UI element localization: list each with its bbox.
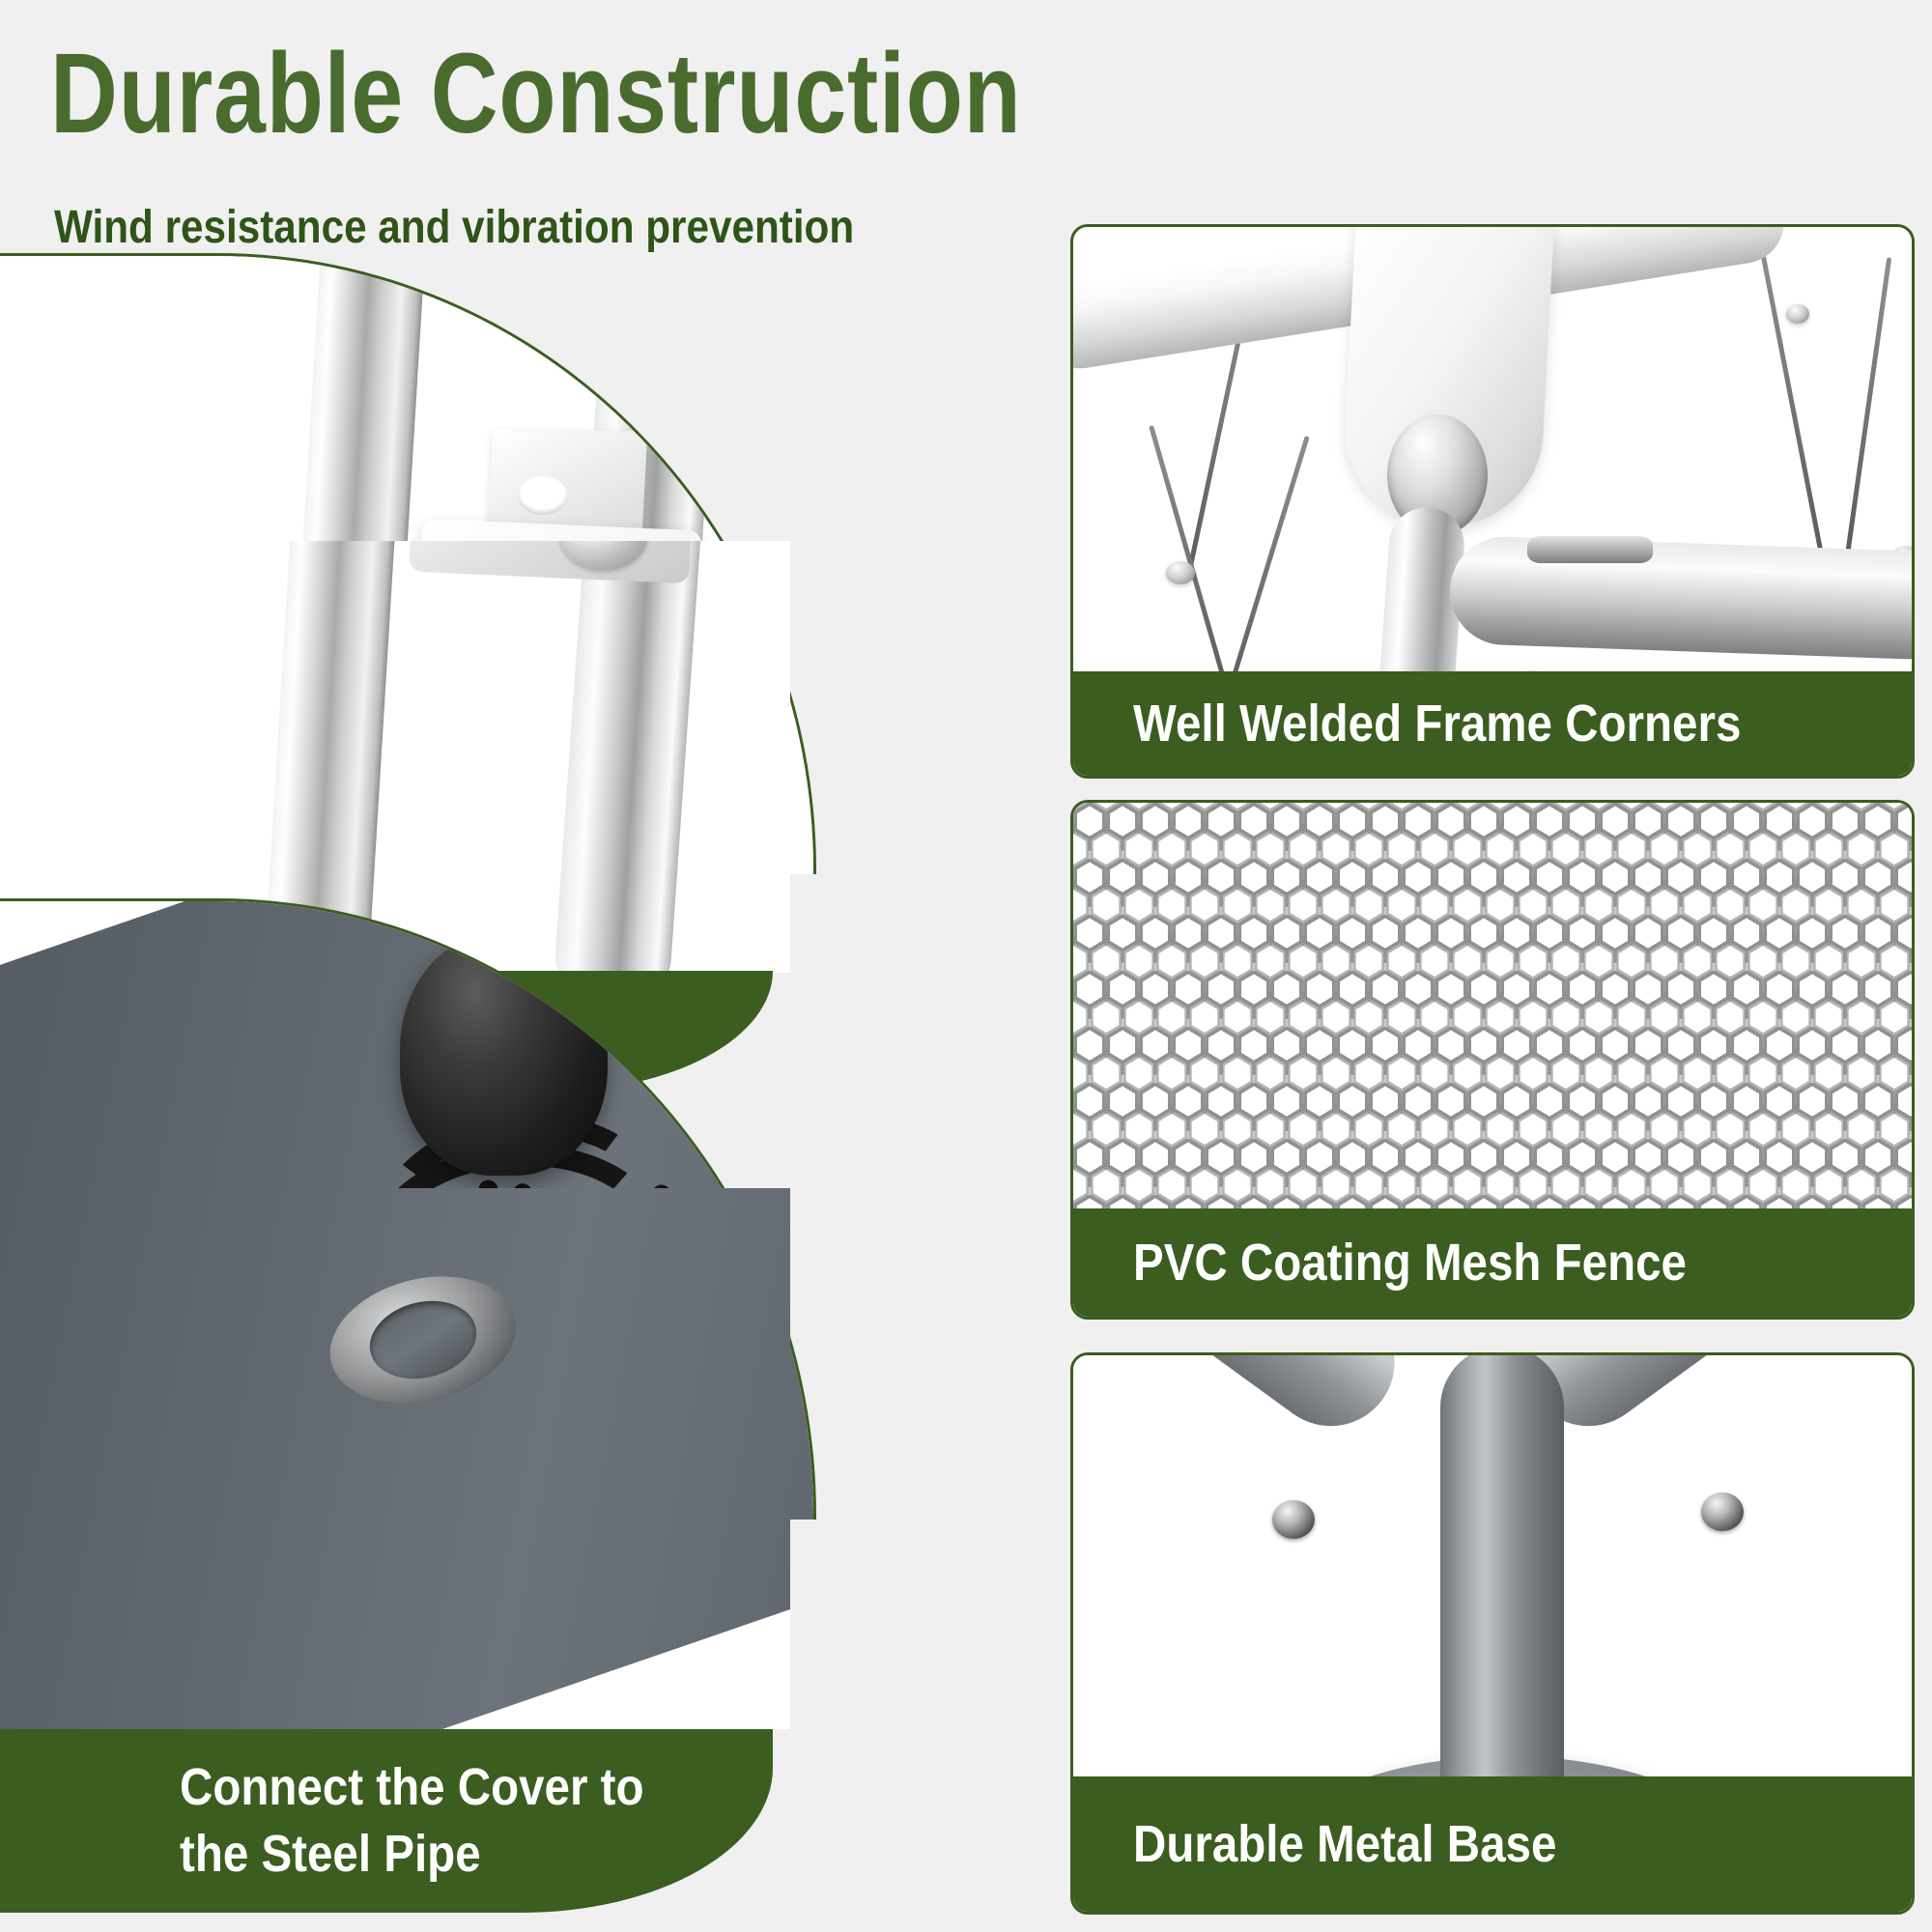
hex-mesh-pattern: [1073, 803, 1912, 1208]
back-bracket-hole: [518, 476, 568, 515]
tension-cable-4: [1760, 249, 1826, 563]
label-bar-pvc-mesh: PVC Coating Mesh Fence: [1073, 1208, 1912, 1317]
tension-cable-5: [1844, 257, 1891, 564]
label-pvc-coating-mesh-fence: PVC Coating Mesh Fence: [1133, 1233, 1687, 1293]
panel-durable-metal-base: Durable Metal Base: [1070, 1352, 1915, 1915]
panel-pvc-coating-mesh-fence: PVC Coating Mesh Fence: [1070, 800, 1915, 1320]
label-well-welded-frame-corners: Well Welded Frame Corners: [1133, 694, 1741, 753]
page-title: Durable Construction: [50, 37, 1022, 151]
tension-cable-2: [1149, 425, 1231, 696]
panel-well-welded-frame-corners: Well Welded Frame Corners: [1070, 224, 1915, 779]
connect-cover-photo-lower: [0, 1188, 790, 1729]
panel-connect-cover-body: [0, 1188, 790, 1729]
diagonal-leg-left: [1073, 1355, 1420, 1451]
label-bar-connect-cover: Connect the Cover to the Steel Pipe: [0, 1729, 773, 1913]
screw-left-icon: [1272, 1500, 1315, 1539]
screw-right-icon: [1701, 1492, 1744, 1531]
cable-anchor-2: [1166, 561, 1195, 584]
lock-hook-plate-lower: [409, 541, 702, 583]
label-connect-cover: Connect the Cover to the Steel Pipe: [180, 1754, 644, 1888]
cable-anchor-3: [1786, 304, 1809, 324]
page-subtitle: Wind resistance and vibration prevention: [54, 205, 854, 251]
bungee-ball: [400, 932, 608, 1176]
horizontal-cross-tube: [1448, 535, 1912, 661]
saddle-clip-top: [1527, 536, 1653, 563]
infographic-canvas: Durable Construction Wind resistance and…: [0, 0, 1932, 1932]
label-bar-metal-base: Durable Metal Base: [1073, 1776, 1912, 1912]
label-durable-metal-base: Durable Metal Base: [1133, 1814, 1556, 1874]
label-bar-well-welded: Well Welded Frame Corners: [1073, 671, 1912, 776]
